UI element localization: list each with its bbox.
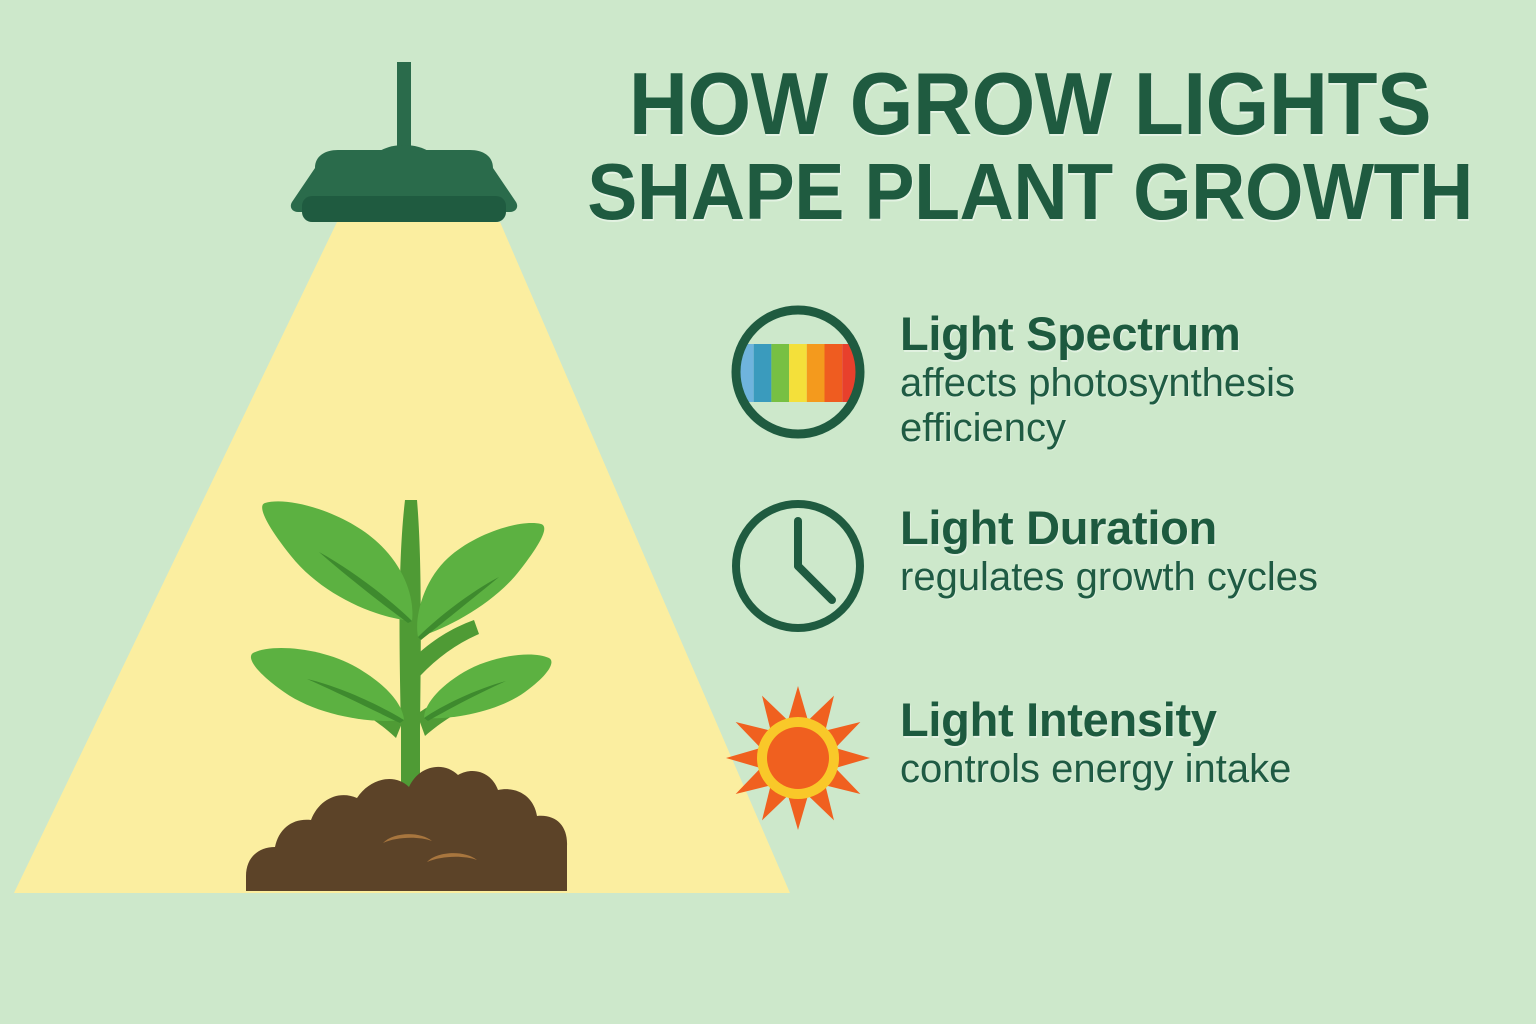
bullet-title-intensity: Light Intensity <box>900 696 1291 745</box>
list-item-light-intensity: Light Intensity controls energy intake <box>722 682 1502 834</box>
grow-lamp-icon <box>291 62 517 222</box>
list-item-light-duration: Light Duration regulates growth cycles <box>722 490 1502 642</box>
title-line-1: HOW GROW LIGHTS <box>589 62 1471 146</box>
page-title: HOW GROW LIGHTS SHAPE PLANT GROWTH <box>556 62 1504 231</box>
clock-icon <box>722 490 874 642</box>
sun-icon <box>722 682 874 834</box>
infographic-poster: HOW GROW LIGHTS SHAPE PLANT GROWTH <box>0 0 1536 1024</box>
bullet-subtitle-duration: regulates growth cycles <box>900 555 1318 600</box>
bullet-subtitle-spectrum: affects photosynthesis efficiency <box>900 361 1400 451</box>
intensity-text: Light Intensity controls energy intake <box>874 682 1291 792</box>
list-item-light-spectrum: Light Spectrum affects photosynthesis ef… <box>722 296 1502 450</box>
bullet-title-spectrum: Light Spectrum <box>900 310 1400 359</box>
feature-list: Light Spectrum affects photosynthesis ef… <box>722 296 1502 874</box>
spectrum-icon <box>722 296 874 448</box>
title-line-2: SHAPE PLANT GROWTH <box>584 154 1475 231</box>
spectrum-text: Light Spectrum affects photosynthesis ef… <box>874 296 1400 450</box>
bullet-title-duration: Light Duration <box>900 504 1318 553</box>
bullet-subtitle-intensity: controls energy intake <box>900 747 1291 792</box>
duration-text: Light Duration regulates growth cycles <box>874 490 1318 600</box>
